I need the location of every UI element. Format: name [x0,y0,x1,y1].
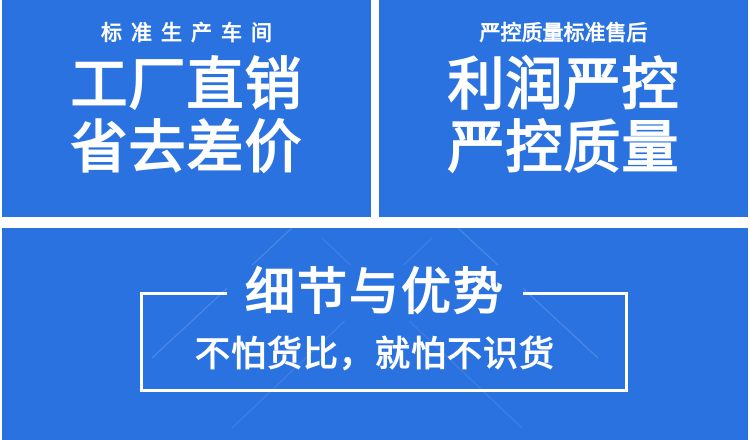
left-panel-headline-line1: 工厂直销 [71,57,303,114]
panel-details-advantages: 细节与优势 不怕货比，就怕不识货 [2,228,748,440]
left-panel-headline-line2: 省去差价 [71,120,303,177]
left-panel-eyebrow: 标准生产车间 [92,23,281,44]
bottom-panel-content: 细节与优势 不怕货比，就怕不识货 [2,228,748,440]
right-panel-headline-line2: 严控质量 [448,120,680,177]
top-panel-row: 标准生产车间 工厂直销 省去差价 严控质量标准售后 利润严控 严控质量 [2,0,748,217]
bottom-panel-subtitle: 不怕货比，就怕不识货 [195,337,555,372]
panel-quality-control: 严控质量标准售后 利润严控 严控质量 [379,0,748,217]
promo-banner: 标准生产车间 工厂直销 省去差价 严控质量标准售后 利润严控 严控质量 细节与优… [0,0,750,440]
right-panel-headline-line1: 利润严控 [448,57,680,114]
right-panel-eyebrow: 严控质量标准售后 [480,23,648,44]
panel-factory-direct: 标准生产车间 工厂直销 省去差价 [2,0,371,217]
bottom-panel-title: 细节与优势 [227,265,523,321]
